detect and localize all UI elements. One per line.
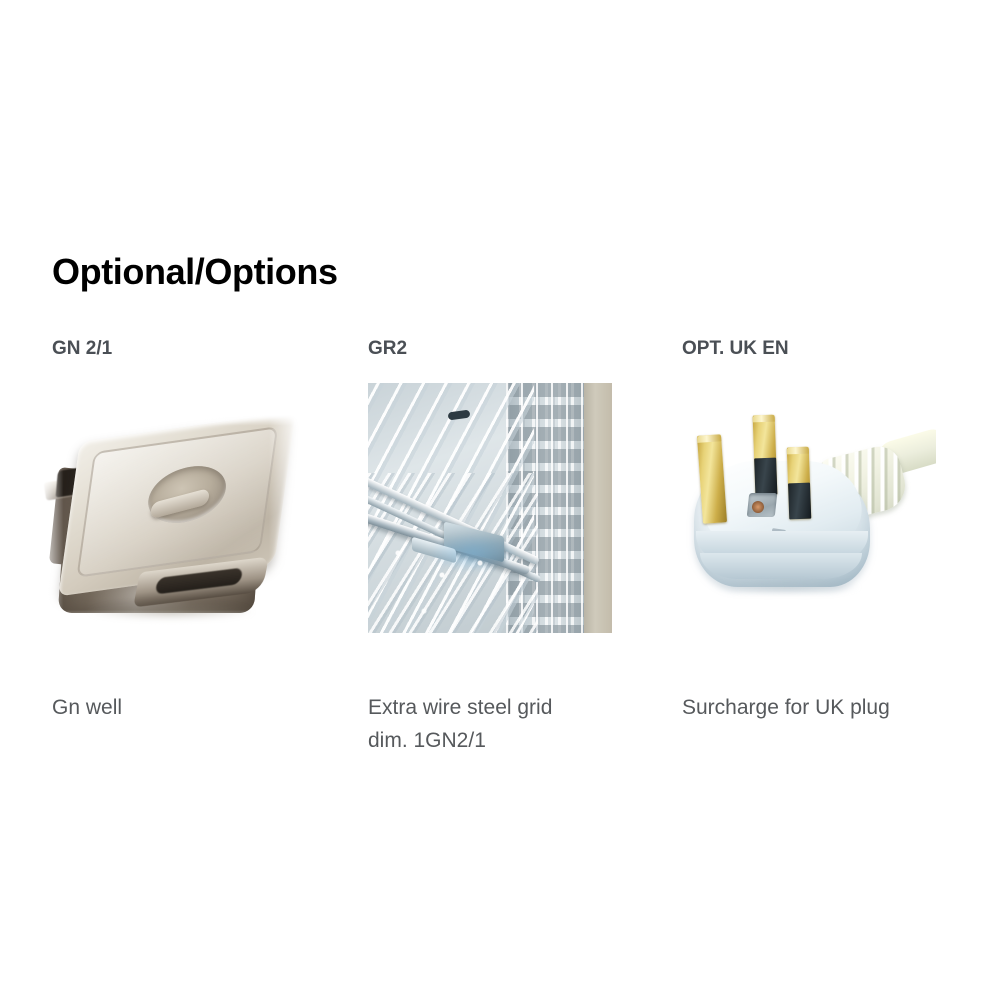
option-code-label: GR2 [368,337,407,361]
plug-live-pin-tip [753,415,775,423]
options-grid: GN 2/1 [0,0,1000,1000]
grid-weld-points [368,533,548,633]
option-caption: Extra wire steel grid dim. 1GN2/1 [368,691,628,757]
plug-base-shell [700,553,862,579]
option-caption: Gn well [52,691,312,724]
option-caption: Surcharge for UK plug [682,691,942,724]
uk-plug-photo [672,413,936,609]
plug-neutral-pin [787,447,811,520]
pan-drop-shadow [86,601,256,623]
option-code-label: GN 2/1 [52,337,112,361]
caption-line: Surcharge for UK plug [682,691,942,724]
gastronorm-pan-photo [40,415,300,627]
plug-fuse-contact [752,501,764,513]
plug-earth-pin-tip [697,434,721,443]
plug-live-pin-sleeve [754,458,777,496]
caption-line: Gn well [52,691,312,724]
option-code-label: OPT. UK EN [682,337,789,361]
plug-neutral-pin-tip [787,447,809,455]
pan-scene [40,415,300,627]
wire-steel-grid-photo [368,383,612,633]
options-page: Optional/Options GN 2/1 [0,0,1000,1000]
caption-line: Extra wire steel grid [368,691,628,724]
grid-side-strip [584,383,612,633]
plug-drop-shadow [712,579,862,595]
plug-neutral-pin-sleeve [788,483,811,520]
caption-line: dim. 1GN2/1 [368,724,628,757]
plug-live-pin [753,415,778,496]
